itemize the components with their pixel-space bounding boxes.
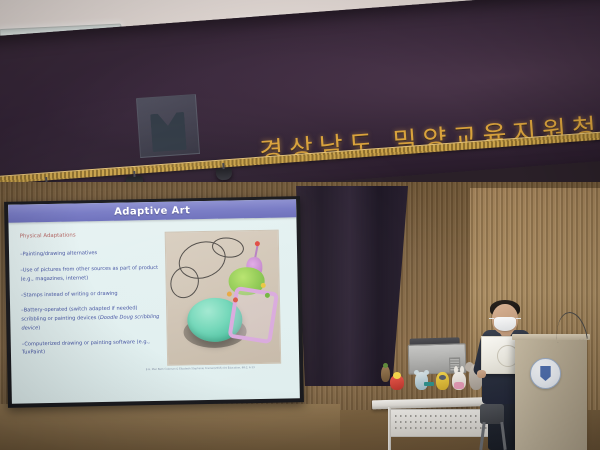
slide-bullet: –Computerized drawing or painting softwa… bbox=[22, 337, 161, 357]
institution-emblem bbox=[530, 358, 561, 389]
table-leg bbox=[388, 407, 391, 450]
slide-bullet: –Stamps instead of writing or drawing bbox=[21, 288, 160, 299]
toy-dot bbox=[265, 293, 270, 298]
slide-bullet: –Use of pictures from other sources as p… bbox=[20, 264, 159, 284]
lecture-hall-photo: 경상남도 밀양교육지원청 Adaptive Art Physical Adapt… bbox=[0, 0, 600, 450]
chair-leg bbox=[500, 422, 506, 450]
presenter-left-hand bbox=[477, 370, 486, 378]
chair-leg bbox=[479, 422, 485, 450]
adaptive-switch-photo bbox=[165, 230, 282, 366]
slide-title: Adaptive Art bbox=[114, 205, 190, 217]
slide-credit: β H. Mari Beth Coleman & Elizabeth Steph… bbox=[115, 365, 285, 372]
face-mask bbox=[494, 317, 516, 331]
stage-curtain bbox=[296, 186, 408, 386]
parrot-plush bbox=[390, 372, 404, 390]
groot-figure bbox=[381, 364, 390, 382]
stage-chair bbox=[478, 404, 508, 450]
emblem-shield-icon bbox=[539, 366, 552, 381]
slide-bullet: –Painting/drawing alternatives bbox=[20, 248, 159, 259]
slide-body: Physical Adaptations –Painting/drawing a… bbox=[8, 217, 299, 403]
bunny-plush-pink bbox=[452, 368, 466, 390]
presentation-slide: Adaptive Art Physical Adaptations –Paint… bbox=[8, 199, 300, 403]
bear-plush-blue bbox=[414, 370, 429, 390]
toy-dot bbox=[233, 297, 238, 302]
adapted-toy bbox=[224, 247, 276, 338]
book-emblem-logo bbox=[136, 94, 200, 158]
projection-screen: Adaptive Art Physical Adaptations –Paint… bbox=[4, 196, 304, 408]
slide-bullet: –Battery-operated (switch adapted if nee… bbox=[21, 304, 160, 333]
toy-dot bbox=[227, 292, 232, 297]
slide-heading: Physical Adaptations bbox=[20, 230, 159, 242]
stage-floor bbox=[0, 404, 340, 450]
book-emblem-mark bbox=[150, 112, 187, 152]
chair-back bbox=[480, 404, 504, 424]
toy-dot bbox=[261, 283, 266, 288]
toy-pink-frame bbox=[228, 286, 280, 344]
toy-block-teal bbox=[424, 382, 434, 386]
podium bbox=[515, 338, 587, 450]
minion-plush bbox=[436, 372, 449, 390]
slide-text-block: Physical Adaptations –Painting/drawing a… bbox=[20, 230, 162, 365]
